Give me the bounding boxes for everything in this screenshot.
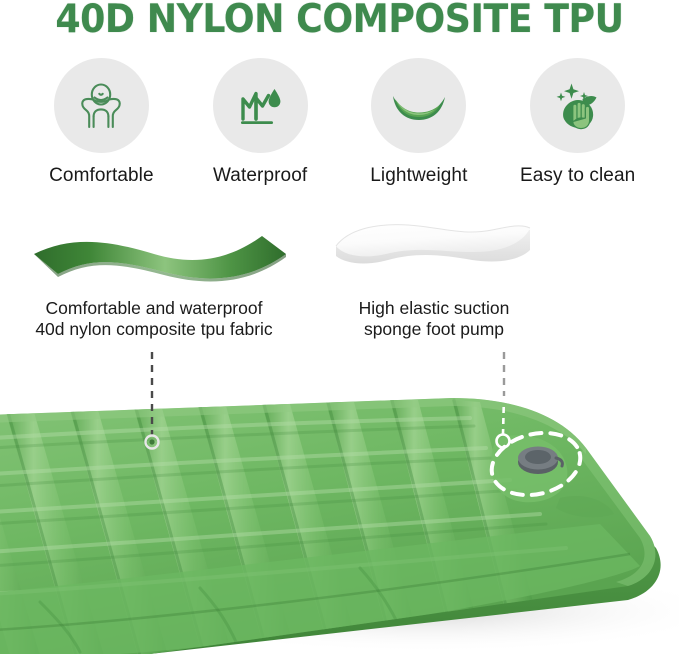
icon-circle-easy-to-clean (530, 58, 625, 153)
page-title: 40D NYLON COMPOSITE TPU (24, 0, 655, 42)
feature-label: Comfortable (49, 165, 154, 187)
icon-circle-lightweight (371, 58, 466, 153)
caption-line-2: sponge foot pump (316, 319, 552, 340)
green-fabric-swatch (14, 226, 294, 292)
feature-label: Lightweight (370, 165, 467, 187)
product-infographic: 40D NYLON COMPOSITE TPU (0, 0, 679, 654)
caption-line-1: High elastic suction (316, 298, 552, 319)
feature-item-easy-to-clean: Easy to clean (503, 58, 653, 187)
feature-item-lightweight: Lightweight (344, 58, 494, 187)
callout-connector-right (484, 352, 524, 462)
feature-item-comfortable: Comfortable (26, 58, 176, 187)
hand-wiping-sparkle-icon (547, 75, 609, 137)
feature-label: Waterproof (213, 165, 307, 187)
caption-line-2: 40d nylon composite tpu fabric (6, 319, 302, 340)
callout-caption-left: Comfortable and waterproof 40d nylon com… (6, 298, 302, 340)
white-sponge-block (322, 216, 542, 296)
feature-label: Easy to clean (520, 165, 635, 187)
water-repellent-droplet-icon (230, 76, 290, 136)
person-relaxing-icon (70, 75, 132, 137)
icon-circle-waterproof (213, 58, 308, 153)
caption-line-1: Comfortable and waterproof (6, 298, 302, 319)
feature-item-waterproof: Waterproof (185, 58, 335, 187)
callout-caption-right: High elastic suction sponge foot pump (316, 298, 552, 340)
feather-leaf-icon (386, 73, 452, 139)
icon-circle-comfortable (54, 58, 149, 153)
callout-section: Comfortable and waterproof 40d nylon com… (0, 198, 679, 358)
feature-row: Comfortable Waterproof (0, 58, 679, 198)
callout-connector-left (140, 352, 164, 452)
